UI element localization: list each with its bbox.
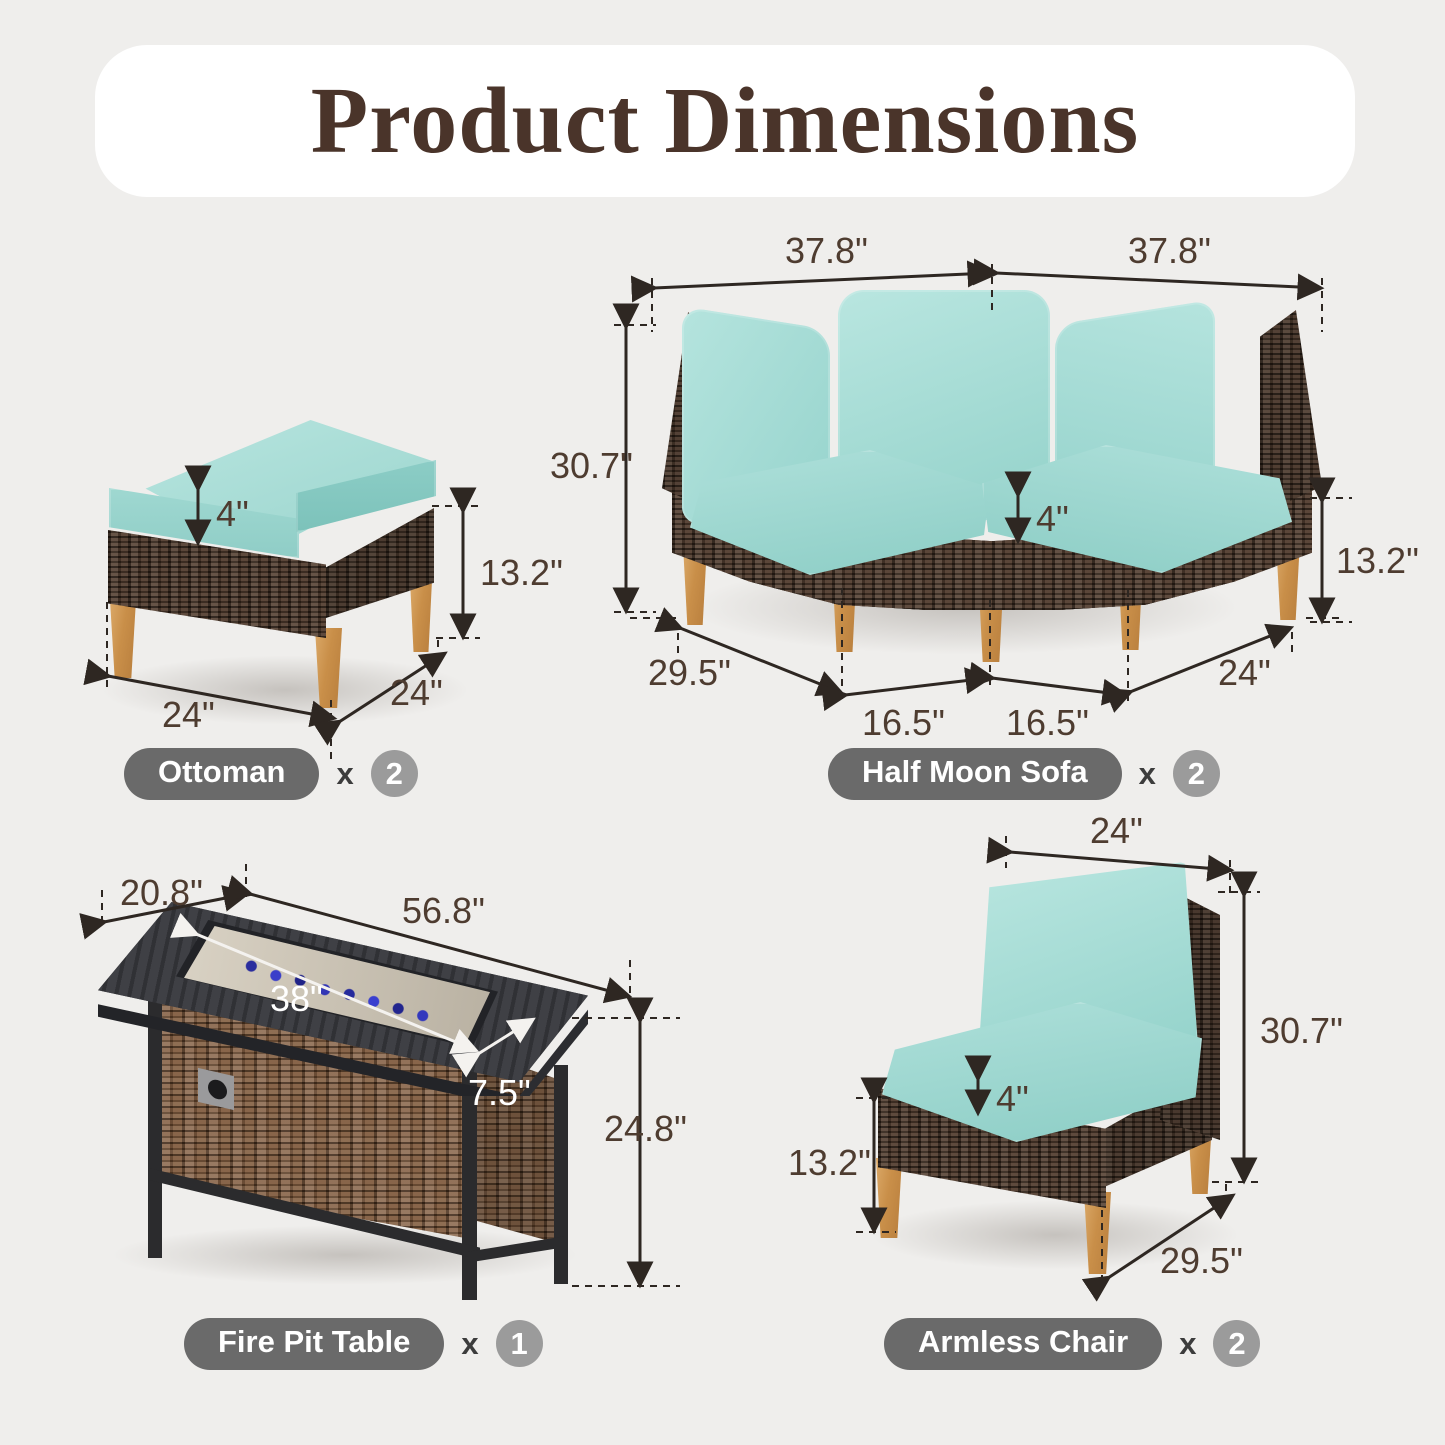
firepit-quantity-badge: 1 bbox=[496, 1320, 543, 1367]
sofa-multiplier: x bbox=[1139, 756, 1156, 792]
page-title: Product Dimensions bbox=[95, 45, 1355, 197]
ottoman-dim-seat-height: 13.2" bbox=[480, 552, 563, 594]
sofa-dim-left-depth: 29.5" bbox=[648, 652, 731, 694]
ottoman-dim-width: 24" bbox=[162, 694, 215, 736]
firepit-multiplier: x bbox=[461, 1326, 478, 1362]
sofa-dim-overall-height: 30.7" bbox=[550, 445, 633, 487]
sofa-dim-right-base-width: 16.5" bbox=[1006, 702, 1089, 744]
ottoman-multiplier: x bbox=[336, 756, 353, 792]
ottoman-leg-front-left bbox=[110, 600, 136, 678]
sofa-dim-right-depth: 24" bbox=[1218, 652, 1271, 694]
firepit-name-pill: Fire Pit Table bbox=[184, 1318, 444, 1370]
sofa-quantity-badge: 2 bbox=[1173, 750, 1220, 797]
product-tag-ottoman: Ottoman x 2 bbox=[124, 748, 418, 800]
title-banner: Product Dimensions bbox=[95, 45, 1355, 197]
chair-dim-cushion-thickness: 4" bbox=[996, 1078, 1029, 1120]
product-tag-half-moon-sofa: Half Moon Sofa x 2 bbox=[828, 748, 1220, 800]
sofa-name-pill: Half Moon Sofa bbox=[828, 748, 1122, 800]
chair-dim-height: 30.7" bbox=[1260, 1010, 1343, 1052]
product-tag-armless-chair: Armless Chair x 2 bbox=[884, 1318, 1260, 1370]
ottoman-name-pill: Ottoman bbox=[124, 748, 319, 800]
firepit-leg-front-left bbox=[148, 1212, 162, 1258]
sofa-dim-top-left-width: 37.8" bbox=[785, 230, 868, 272]
chair-dim-width: 24" bbox=[1090, 810, 1143, 852]
firepit-dim-height: 24.8" bbox=[604, 1108, 687, 1150]
firepit-dim-burner-length: 38" bbox=[270, 978, 323, 1020]
chair-dim-seat-height: 13.2" bbox=[788, 1142, 871, 1184]
sofa-dim-top-right-width: 37.8" bbox=[1128, 230, 1211, 272]
chair-dim-depth: 29.5" bbox=[1160, 1240, 1243, 1282]
chair-multiplier: x bbox=[1179, 1326, 1196, 1362]
product-panel-half-moon-sofa: 37.8" 37.8" 30.7" 4" 13.2" 29.5" 16.5" 1… bbox=[600, 240, 1360, 740]
sofa-dim-cushion-thickness: 4" bbox=[1036, 498, 1069, 540]
firepit-dim-length: 56.8" bbox=[402, 890, 485, 932]
ottoman-leg-back-right bbox=[410, 580, 432, 652]
firepit-dim-depth: 20.8" bbox=[120, 872, 203, 914]
firepit-leg-front-right bbox=[462, 1258, 477, 1300]
firepit-frame-side-right bbox=[554, 1065, 568, 1250]
sofa-dim-left-base-width: 16.5" bbox=[862, 702, 945, 744]
firepit-leg-back-right bbox=[554, 1244, 568, 1284]
chair-name-pill: Armless Chair bbox=[884, 1318, 1162, 1370]
infographic-canvas: Product Dimensions bbox=[0, 0, 1445, 1445]
sofa-dim-seat-height: 13.2" bbox=[1336, 540, 1419, 582]
firepit-dim-burner-width: 7.5" bbox=[468, 1072, 531, 1114]
chair-quantity-badge: 2 bbox=[1213, 1320, 1260, 1367]
product-panel-fire-pit-table: 20.8" 56.8" 38" 7.5" 24.8" bbox=[80, 860, 720, 1310]
ottoman-dim-depth: 24" bbox=[390, 672, 443, 714]
ottoman-quantity-badge: 2 bbox=[371, 750, 418, 797]
product-panel-armless-chair: 24" 30.7" 4" 13.2" 29.5" bbox=[840, 820, 1360, 1320]
ottoman-dim-cushion-thickness: 4" bbox=[216, 493, 249, 535]
product-tag-fire-pit-table: Fire Pit Table x 1 bbox=[184, 1318, 543, 1370]
